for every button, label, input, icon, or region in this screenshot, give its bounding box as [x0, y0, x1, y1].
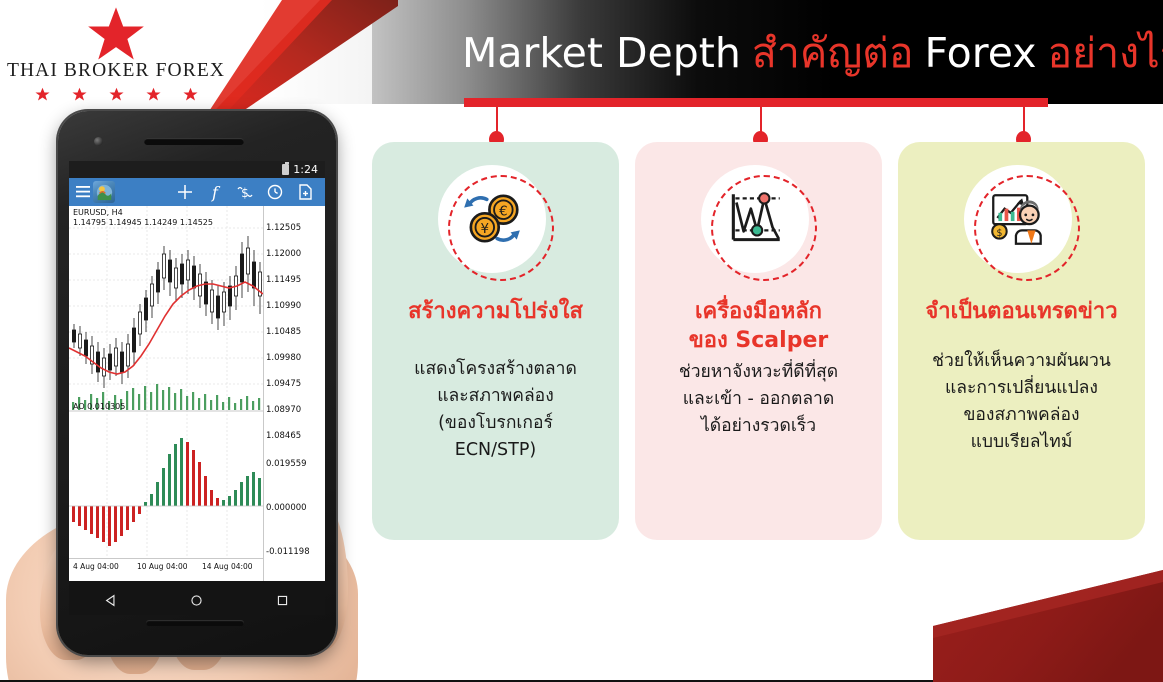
svg-text:$: $: [241, 186, 249, 200]
new-chart-icon[interactable]: [290, 184, 320, 200]
icon-dashed-ring: [711, 175, 817, 281]
card-2-body-line: ช่วยหาจังหวะที่ดีที่สุด: [679, 359, 838, 386]
card-1-body-line: แสดงโครงสร้างตลาด: [414, 356, 577, 383]
star-icon: [183, 87, 198, 102]
icon-dashed-ring: [448, 175, 554, 281]
page-title-part-thai-1: สำคัญต่อ: [752, 21, 914, 86]
icon-dashed-ring: [974, 175, 1080, 281]
trade-dollar-icon[interactable]: $: [230, 184, 260, 200]
status-bar-clock: 1:24: [293, 163, 318, 176]
earpiece-speaker: [144, 138, 244, 145]
phone-device: 1:24: [58, 111, 336, 655]
page-title-part-thai-2: อย่างไร?: [1047, 21, 1163, 86]
star-icon: [87, 6, 145, 62]
price-tick: 1.12000: [266, 249, 301, 259]
price-tick: 1.11495: [266, 275, 301, 285]
star-icon: [109, 87, 124, 102]
price-tick: 1.09475: [266, 379, 301, 389]
time-tick: 10 Aug 04:00: [137, 562, 188, 571]
price-chart-svg: [69, 206, 263, 581]
phone-screen: 1:24: [69, 161, 325, 581]
star-icon: [146, 87, 161, 102]
star-icon: [35, 87, 50, 102]
page-title: Market Depth สำคัญต่อ Forex อย่างไร?: [462, 22, 1163, 84]
card-3-body-line: ช่วยให้เห็นความผันผวน: [932, 348, 1111, 375]
awesome-oscillator-bars: [72, 438, 261, 546]
page-title-part-market-depth: Market Depth: [462, 29, 741, 77]
star-icon: [72, 87, 87, 102]
card-2-body: ช่วยหาจังหวะที่ดีที่สุด และเข้า - ออกตลา…: [669, 359, 848, 440]
card-3-body-line: ของสภาพคล่อง: [932, 402, 1111, 429]
price-tick: 1.09980: [266, 353, 301, 363]
card-3-body: ช่วยให้เห็นความผันผวน และการเปลี่ยนแปลง …: [922, 348, 1121, 457]
recents-square-icon[interactable]: [276, 592, 289, 605]
back-triangle-icon[interactable]: [105, 592, 118, 605]
card-1-body-line: (ของโบรกเกอร์: [414, 410, 577, 437]
chart-ohlc-line: 1.14795 1.14945 1.14249 1.14525: [73, 218, 213, 228]
card-transparency[interactable]: € ¥ สร้างความโปร่งใส แสดงโครงสร้างตลาด แ…: [372, 142, 619, 540]
indicator-tick: 0.000000: [266, 503, 307, 513]
brand-name: THAI BROKER FOREX: [7, 60, 225, 82]
title-underline-bar: [464, 98, 1048, 107]
android-navigation-bar: [69, 581, 325, 615]
mt-app-toolbar: f $: [69, 178, 325, 206]
brand-logo: THAI BROKER FOREX: [0, 0, 232, 110]
price-tick: 1.10990: [266, 301, 301, 311]
crosshair-icon[interactable]: [170, 184, 200, 200]
home-circle-icon[interactable]: [190, 592, 203, 605]
card-scalper[interactable]: เครื่องมือหลัก ของ Scalper ช่วยหาจังหวะท…: [635, 142, 882, 540]
bottom-speaker: [146, 620, 244, 626]
card-1-title: สร้างความโปร่งใส: [408, 297, 583, 326]
mt-chart-area[interactable]: EURUSD, H4 1.14795 1.14945 1.14249 1.145…: [69, 206, 325, 581]
battery-icon: [282, 164, 289, 175]
time-tick: 4 Aug 04:00: [73, 562, 119, 571]
price-tick: 1.08465: [266, 431, 301, 441]
clock-icon[interactable]: [260, 184, 290, 200]
indicator-tick: 0.019559: [266, 459, 307, 469]
indicators-icon[interactable]: f: [200, 183, 230, 202]
card-2-title-line1: เครื่องมือหลัก: [689, 297, 828, 326]
chart-symbol-info: EURUSD, H4 1.14795 1.14945 1.14249 1.145…: [73, 208, 213, 228]
metatrader-app-icon[interactable]: [93, 181, 115, 203]
price-tick: 1.10485: [266, 327, 301, 337]
page-title-part-forex: Forex: [925, 29, 1037, 77]
card-2-title-line2: ของ Scalper: [689, 326, 828, 355]
card-1-body: แสดงโครงสร้างตลาด และสภาพคล่อง (ของโบรกเ…: [404, 356, 587, 465]
card-2-title: เครื่องมือหลัก ของ Scalper: [689, 297, 828, 355]
phone-in-hand: 1:24: [0, 108, 372, 682]
hamburger-menu-icon[interactable]: [74, 186, 92, 198]
indicator-tick: -0.011198: [266, 547, 310, 557]
price-tick: 1.12505: [266, 223, 301, 233]
front-camera-icon: [94, 137, 103, 146]
card-3-title: จำเป็นตอนเทรดข่าว: [925, 297, 1117, 326]
card-1-body-line: และสภาพคล่อง: [414, 383, 577, 410]
chart-symbol-line: EURUSD, H4: [73, 208, 213, 218]
cards-container: € ¥ สร้างความโปร่งใส แสดงโครงสร้างตลาด แ…: [372, 142, 1163, 542]
price-axis: 1.12505 1.12000 1.11495 1.10990 1.10485 …: [263, 206, 325, 581]
card-2-body-line: ได้อย่างรวดเร็ว: [679, 413, 838, 440]
card-1-icon-badge: € ¥: [438, 165, 554, 281]
time-tick: 14 Aug 04:00: [202, 562, 253, 571]
card-news-trading[interactable]: $ จำเป็นตอนเทรดข่าว ช่วยให้เห็นความผันผว…: [898, 142, 1145, 540]
ao-indicator-label: AO 0.010305: [73, 402, 125, 411]
card-3-icon-badge: $: [964, 165, 1080, 281]
card-1-body-line: ECN/STP): [414, 437, 577, 464]
card-2-body-line: และเข้า - ออกตลาด: [679, 386, 838, 413]
brand-rating-stars: [35, 87, 198, 102]
card-3-body-line: แบบเรียลไทม์: [932, 429, 1111, 456]
android-status-bar: 1:24: [69, 161, 325, 178]
card-3-body-line: และการเปลี่ยนแปลง: [932, 375, 1111, 402]
card-2-icon-badge: [701, 165, 817, 281]
time-axis: 4 Aug 04:00 10 Aug 04:00 14 Aug 04:00: [69, 558, 263, 574]
price-tick: 1.08970: [266, 405, 301, 415]
bottom-right-red-decoration: [933, 564, 1163, 682]
